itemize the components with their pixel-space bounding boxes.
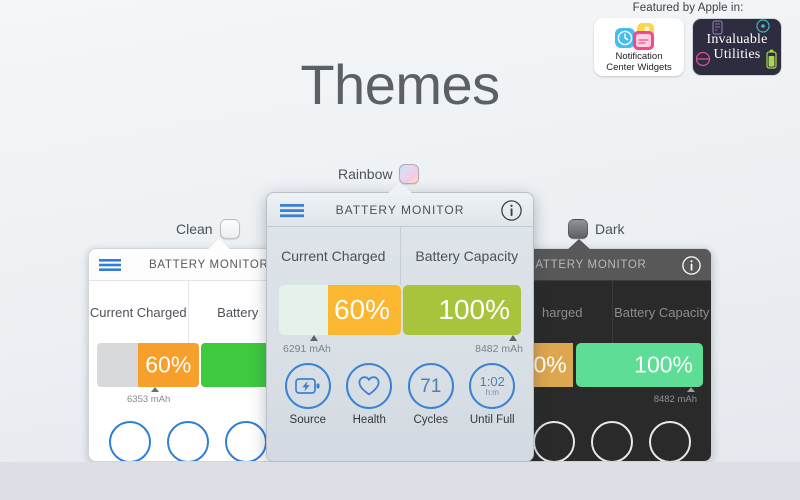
card-header: BATTERY MONITOR <box>267 193 533 227</box>
theme-label-rainbow: Rainbow <box>338 166 392 182</box>
theme-label-clean: Clean <box>176 221 213 237</box>
card-stats: Source Health 71 Cycles 1:02 h:m Until F… <box>267 359 533 426</box>
badge-label-line2: Utilities <box>706 47 767 62</box>
column-label-battery-capacity: Battery Capacity <box>613 281 712 343</box>
card-title: BATTERY MONITOR <box>527 259 647 271</box>
pointer-clean <box>206 239 232 251</box>
stat-source[interactable]: Source <box>280 363 336 426</box>
card-columns: Current Charged Battery Capacity <box>267 227 533 285</box>
battery-bolt-icon <box>295 377 321 395</box>
card-mah-row: 6291 mAh 8482 mAh <box>267 335 533 359</box>
stat-circle[interactable] <box>167 421 209 462</box>
stat-label-until-full: Until Full <box>464 414 520 426</box>
card-mah-row: 8482 mAh <box>513 387 711 409</box>
badge-label-line1: Invaluable <box>706 32 767 47</box>
stat-unit-until-full: h:m <box>486 388 499 397</box>
card-bars: 60% <box>89 343 287 387</box>
card-title: BATTERY MONITOR <box>336 203 465 217</box>
badge-notification-center-widgets[interactable]: Notification Center Widgets <box>594 18 684 76</box>
stat-circle-source[interactable] <box>285 363 331 409</box>
bar-percent-current-charged: 60% <box>334 294 390 326</box>
bar-percent-current-charged: 0% <box>533 352 566 379</box>
stat-circle[interactable] <box>533 421 575 462</box>
badge-label-line1: Notification <box>606 52 671 63</box>
mah-battery-capacity: 8482 mAh <box>475 343 523 355</box>
card-mah-row: 6353 mAh <box>89 387 287 409</box>
card-columns: Current Charged Battery <box>89 281 287 343</box>
theme-swatch-clean[interactable] <box>220 219 240 239</box>
stat-value-cycles: 71 <box>420 377 441 396</box>
hamburger-icon[interactable] <box>280 204 304 218</box>
stat-until-full[interactable]: 1:02 h:m Until Full <box>464 363 520 426</box>
badge-label-line2: Center Widgets <box>606 63 671 74</box>
bar-percent-battery-capacity: 100% <box>438 294 510 326</box>
bottom-band <box>0 462 800 500</box>
page-title: Themes <box>0 52 800 117</box>
stat-cycles[interactable]: 71 Cycles <box>403 363 459 426</box>
card-columns: harged Battery Capacity <box>513 281 711 343</box>
theme-preview-card-clean[interactable]: BATTERY MONITOR Current Charged Battery … <box>88 248 288 462</box>
info-circle-icon[interactable] <box>682 256 701 275</box>
stat-circle[interactable] <box>225 421 267 462</box>
mah-battery-capacity: 8482 mAh <box>654 394 697 405</box>
mah-caret-left <box>310 335 318 341</box>
mah-caret-right <box>509 335 517 341</box>
card-title: BATTERY MONITOR <box>149 259 269 271</box>
card-bars: 60% 100% <box>267 285 533 335</box>
bar-percent-battery-capacity: 100% <box>634 352 693 379</box>
heart-icon <box>357 375 381 397</box>
hamburger-icon[interactable] <box>99 258 121 272</box>
theme-swatch-dark[interactable] <box>568 219 588 239</box>
column-label-battery-capacity: Battery Capacity <box>401 227 534 285</box>
bar-battery-capacity: 100% <box>576 343 703 387</box>
theme-tag-dark[interactable]: Dark <box>568 219 625 239</box>
theme-swatch-rainbow[interactable] <box>399 164 419 184</box>
theme-tag-rainbow[interactable]: Rainbow <box>338 164 419 184</box>
card-header: BATTERY MONITOR <box>89 249 287 281</box>
mah-current-charged: 6353 mAh <box>127 394 170 405</box>
stat-label-health: Health <box>341 414 397 426</box>
card-bars: 0% 100% <box>513 343 711 387</box>
bar-battery-capacity: 100% <box>403 285 521 335</box>
mah-current-charged: 6291 mAh <box>283 343 331 355</box>
bar-current-charged: 60% <box>279 285 401 335</box>
stat-circle-until-full[interactable]: 1:02 h:m <box>469 363 515 409</box>
theme-label-dark: Dark <box>595 221 625 237</box>
stat-circle-cycles[interactable]: 71 <box>408 363 454 409</box>
mah-caret <box>151 387 159 392</box>
bar-current-charged: 60% <box>97 343 199 387</box>
stat-label-source: Source <box>280 414 336 426</box>
info-circle-icon[interactable] <box>501 200 522 221</box>
stat-circle[interactable] <box>649 421 691 462</box>
stat-circle[interactable] <box>591 421 633 462</box>
stat-label-cycles: Cycles <box>403 414 459 426</box>
theme-tag-clean[interactable]: Clean <box>176 219 240 239</box>
column-label-current-charged: Current Charged <box>89 281 189 343</box>
stat-circle[interactable] <box>109 421 151 462</box>
card-stat-circles <box>513 409 711 462</box>
featured-label: Featured by Apple in: <box>588 2 788 14</box>
badge-label: Invaluable Utilities <box>706 32 767 62</box>
card-header: BATTERY MONITOR <box>513 249 711 281</box>
badge-label: Notification Center Widgets <box>606 52 671 73</box>
card-stat-circles <box>89 409 287 462</box>
bar-percent-current-charged: 60% <box>145 352 191 379</box>
theme-preview-card-dark[interactable]: BATTERY MONITOR harged Battery Capacity … <box>512 248 712 462</box>
stat-circle-health[interactable] <box>346 363 392 409</box>
stat-value-until-full: 1:02 <box>480 375 505 388</box>
column-label-current-charged: Current Charged <box>267 227 401 285</box>
widgets-icons <box>594 22 684 52</box>
theme-preview-card-rainbow[interactable]: BATTERY MONITOR Current Charged Battery … <box>266 192 534 462</box>
pointer-dark <box>566 239 592 251</box>
mah-caret <box>687 387 695 392</box>
stat-health[interactable]: Health <box>341 363 397 426</box>
